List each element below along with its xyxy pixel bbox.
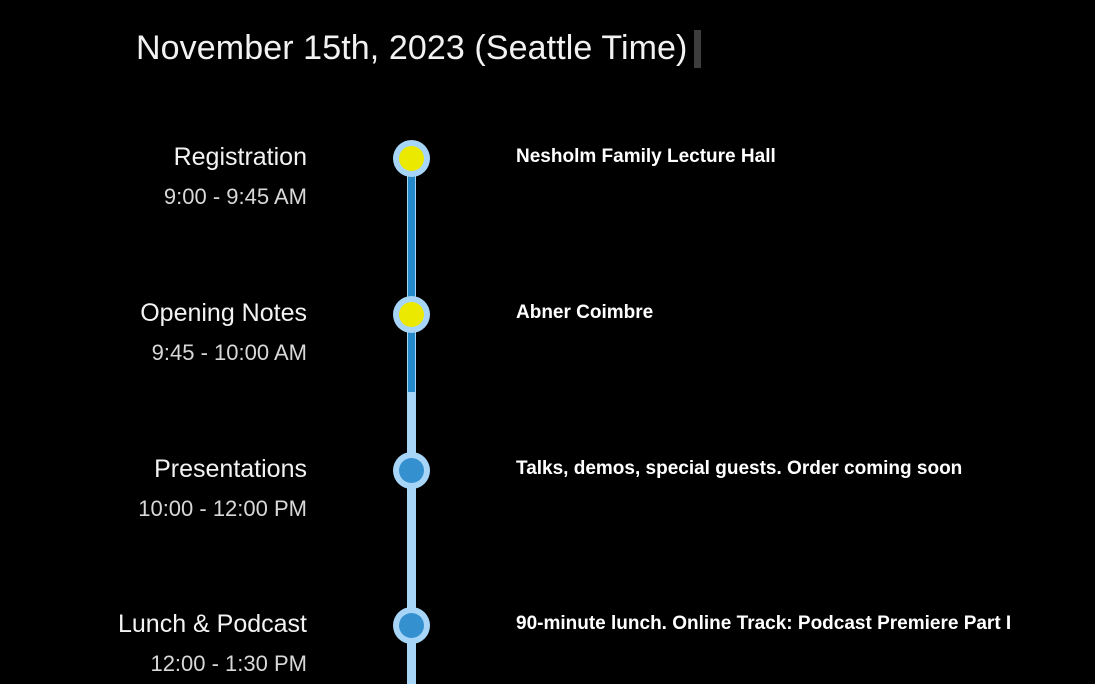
timeline-row-left: Registration 9:00 - 9:45 AM bbox=[0, 140, 307, 213]
timeline-row-left: Presentations 10:00 - 12:00 PM bbox=[0, 452, 307, 525]
timeline-item-description: Nesholm Family Lecture Hall bbox=[516, 144, 776, 170]
timeline-row[interactable]: Registration 9:00 - 9:45 AM Nesholm Fami… bbox=[0, 140, 1095, 296]
timeline-marker-upcoming[interactable] bbox=[393, 452, 430, 489]
timeline-item-description: Talks, demos, special guests. Order comi… bbox=[516, 456, 962, 482]
marker-dot-icon bbox=[399, 458, 424, 483]
marker-dot-icon bbox=[399, 302, 424, 327]
timeline-item-title: Opening Notes bbox=[0, 296, 307, 330]
timeline-marker-done[interactable] bbox=[393, 296, 430, 333]
timeline-item-title: Lunch & Podcast bbox=[0, 607, 307, 641]
timeline-row[interactable]: Opening Notes 9:45 - 10:00 AM Abner Coim… bbox=[0, 296, 1095, 452]
timeline-row-left: Lunch & Podcast 12:00 - 1:30 PM bbox=[0, 607, 307, 680]
timeline-item-time: 9:00 - 9:45 AM bbox=[0, 181, 307, 213]
timeline-item-description: 90-minute lunch. Online Track: Podcast P… bbox=[516, 611, 1011, 637]
timeline-item-description: Abner Coimbre bbox=[516, 300, 653, 326]
timeline-item-title: Presentations bbox=[0, 452, 307, 486]
timeline-marker-done[interactable] bbox=[393, 140, 430, 177]
timeline-row[interactable]: Presentations 10:00 - 12:00 PM Talks, de… bbox=[0, 452, 1095, 608]
schedule-timeline: Registration 9:00 - 9:45 AM Nesholm Fami… bbox=[0, 100, 1095, 684]
timeline-item-title: Registration bbox=[0, 140, 307, 174]
marker-dot-icon bbox=[399, 146, 424, 171]
text-cursor-icon bbox=[694, 30, 701, 68]
timeline-marker-upcoming[interactable] bbox=[393, 607, 430, 644]
marker-dot-icon bbox=[399, 613, 424, 638]
timeline-item-time: 10:00 - 12:00 PM bbox=[0, 493, 307, 525]
timeline-row[interactable]: Lunch & Podcast 12:00 - 1:30 PM 90-minut… bbox=[0, 607, 1095, 684]
page-header: November 15th, 2023 (Seattle Time) bbox=[0, 0, 1095, 100]
timeline-item-time: 12:00 - 1:30 PM bbox=[0, 648, 307, 680]
timeline-item-time: 9:45 - 10:00 AM bbox=[0, 337, 307, 369]
timeline-row-left: Opening Notes 9:45 - 10:00 AM bbox=[0, 296, 307, 369]
page-title: November 15th, 2023 (Seattle Time) bbox=[136, 26, 687, 70]
